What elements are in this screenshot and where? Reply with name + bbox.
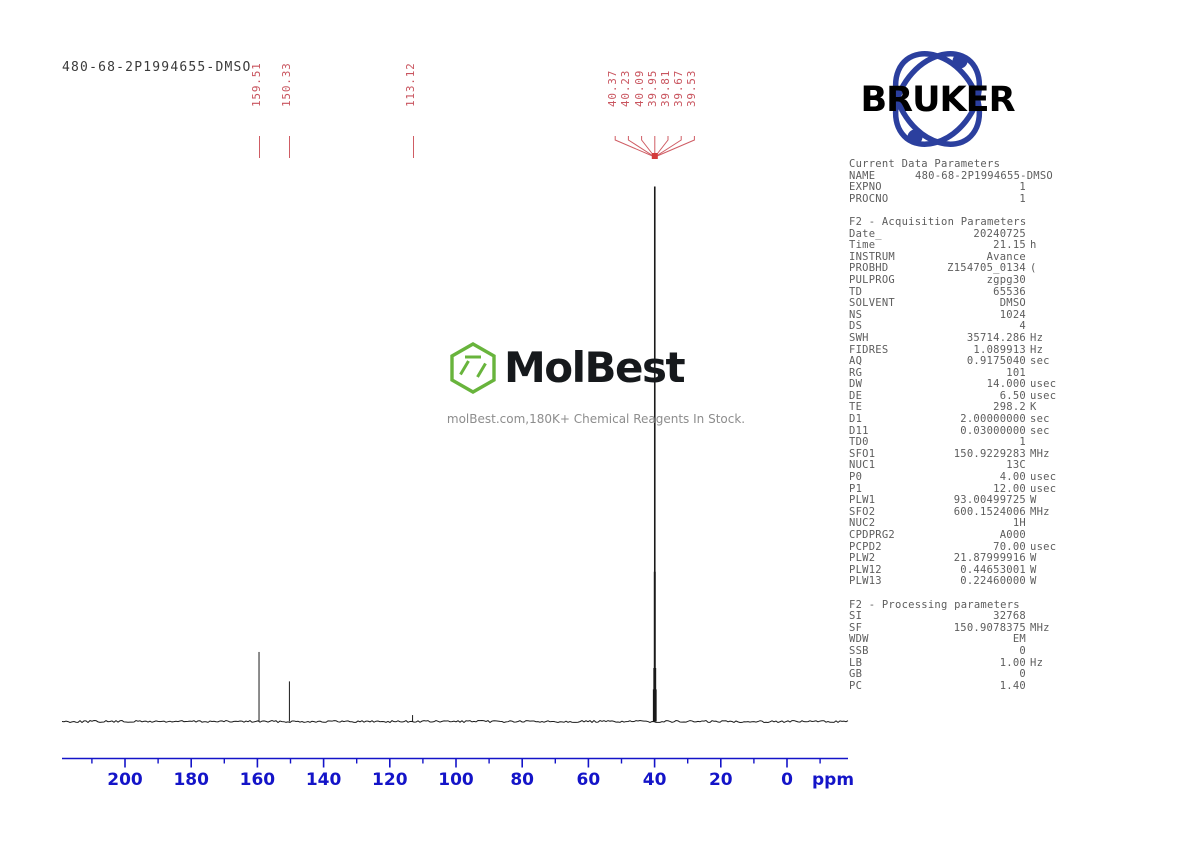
bruker-logo: BRUKER xyxy=(850,45,1025,153)
param-section-heading: F2 - Processing parameters xyxy=(849,600,1064,612)
param-value: 1 xyxy=(915,194,1026,206)
param-key: PROCNO xyxy=(849,194,915,206)
param-unit xyxy=(1026,646,1064,658)
param-unit xyxy=(1026,681,1064,693)
param-value: 0.03000000 xyxy=(915,426,1026,438)
nmr-report-page: 480-68-2P1994655-DMSO 159.51150.33113.12… xyxy=(0,0,1190,842)
param-row: NS1024 xyxy=(849,310,1064,322)
param-key: PULPROG xyxy=(849,275,915,287)
param-row: SFO1150.9229283MHz xyxy=(849,449,1064,461)
param-spacer xyxy=(849,588,1064,600)
param-row: AQ0.9175040sec xyxy=(849,356,1064,368)
param-unit: sec xyxy=(1026,414,1064,426)
param-key: SI xyxy=(849,611,915,623)
bruker-dot-bottom xyxy=(908,130,923,145)
param-value: A000 xyxy=(915,530,1026,542)
param-unit xyxy=(1026,530,1064,542)
param-unit xyxy=(1053,171,1091,183)
param-row: SSB0 xyxy=(849,646,1064,658)
param-row: Time21.15h xyxy=(849,240,1064,252)
param-value: 35714.286 xyxy=(915,333,1026,345)
param-unit: usec xyxy=(1026,472,1064,484)
param-value: 1.00 xyxy=(915,658,1026,670)
param-value: 480-68-2P1994655-DMSO xyxy=(915,171,1053,183)
param-row: SFO2600.1524006MHz xyxy=(849,507,1064,519)
param-row: D12.00000000sec xyxy=(849,414,1064,426)
param-key: AQ xyxy=(849,356,915,368)
param-value: 2.00000000 xyxy=(915,414,1026,426)
bruker-wordmark: BRUKER xyxy=(850,83,1025,118)
param-key: PLW13 xyxy=(849,576,915,588)
param-unit xyxy=(1026,518,1064,530)
param-unit: h xyxy=(1026,240,1064,252)
axis-tick-label: 60 xyxy=(577,770,601,790)
param-key: P0 xyxy=(849,472,915,484)
param-row: SI32768 xyxy=(849,611,1064,623)
param-key: Time xyxy=(849,240,915,252)
param-row: WDWEM xyxy=(849,634,1064,646)
watermark-wordmark: MolBest xyxy=(504,347,684,389)
param-unit: W xyxy=(1026,576,1064,588)
param-unit xyxy=(1026,287,1064,299)
axis-unit-label: ppm xyxy=(812,770,854,790)
param-unit: sec xyxy=(1026,356,1064,368)
param-unit xyxy=(1026,634,1064,646)
param-unit xyxy=(1026,669,1064,681)
param-row: SF150.9078375MHz xyxy=(849,623,1064,635)
axis-tick-label: 20 xyxy=(709,770,733,790)
param-value: 32768 xyxy=(915,611,1026,623)
param-value: 0 xyxy=(915,669,1026,681)
param-unit: Hz xyxy=(1026,658,1064,670)
param-key: CPDPRG2 xyxy=(849,530,915,542)
param-value: 600.1524006 xyxy=(915,507,1026,519)
param-key: D1 xyxy=(849,414,915,426)
param-value: 150.9078375 xyxy=(915,623,1026,635)
param-row: PROCNO1 xyxy=(849,194,1064,206)
axis-tick-label: 160 xyxy=(240,770,276,790)
param-unit: ( xyxy=(1026,263,1064,275)
axis-tick-label: 40 xyxy=(643,770,667,790)
param-row: GB0 xyxy=(849,669,1064,681)
param-row: LB1.00Hz xyxy=(849,658,1064,670)
param-row: PLW130.22460000W xyxy=(849,576,1064,588)
param-unit xyxy=(1026,275,1064,287)
axis-tick-label: 0 xyxy=(781,770,793,790)
param-value: 1.40 xyxy=(915,681,1026,693)
bruker-dot-top xyxy=(953,54,968,69)
param-row: PULPROGzgpg30 xyxy=(849,275,1064,287)
param-value: 21.15 xyxy=(915,240,1026,252)
watermark-tagline: molBest.com,180K+ Chemical Reagents In S… xyxy=(446,412,746,426)
param-value: EM xyxy=(915,634,1026,646)
param-unit: MHz xyxy=(1026,449,1064,461)
acquisition-parameter-table: Current Data ParametersNAME480-68-2P1994… xyxy=(849,159,1064,692)
param-row: D110.03000000sec xyxy=(849,426,1064,438)
param-row: P04.00usec xyxy=(849,472,1064,484)
axis-tick-label: 120 xyxy=(372,770,408,790)
param-row: CPDPRG2A000 xyxy=(849,530,1064,542)
param-value: DMSO xyxy=(915,298,1026,310)
axis-tick-label: 180 xyxy=(173,770,209,790)
param-unit xyxy=(1026,310,1064,322)
watermark-logo-row: MolBest xyxy=(446,340,746,396)
param-value: 0.22460000 xyxy=(915,576,1026,588)
param-key: GB xyxy=(849,669,915,681)
param-unit xyxy=(1026,194,1064,206)
hexagon-molecule-icon xyxy=(446,341,500,395)
param-value: 1 xyxy=(915,182,1026,194)
param-value: 0 xyxy=(915,646,1026,658)
axis-tick-label: 200 xyxy=(107,770,143,790)
axis-tick-label: 140 xyxy=(306,770,342,790)
param-unit xyxy=(1026,182,1064,194)
param-key: SSB xyxy=(849,646,915,658)
param-row: PC1.40 xyxy=(849,681,1064,693)
axis-tick-label: 100 xyxy=(438,770,474,790)
axis-tick-label: 80 xyxy=(510,770,534,790)
param-value: 4.00 xyxy=(915,472,1026,484)
param-unit: Hz xyxy=(1026,333,1064,345)
param-row: SWH35714.286Hz xyxy=(849,333,1064,345)
param-key: SOLVENT xyxy=(849,298,915,310)
param-unit: MHz xyxy=(1026,623,1064,635)
molbest-watermark: MolBest molBest.com,180K+ Chemical Reage… xyxy=(446,340,746,426)
param-value: 1024 xyxy=(915,310,1026,322)
param-section-heading: F2 - Acquisition Parameters xyxy=(849,217,1064,229)
param-key: SWH xyxy=(849,333,915,345)
param-section-heading: Current Data Parameters xyxy=(849,159,1064,171)
param-value: zgpg30 xyxy=(915,275,1026,287)
param-unit: MHz xyxy=(1026,507,1064,519)
param-unit xyxy=(1026,298,1064,310)
param-unit xyxy=(1026,611,1064,623)
param-row: SOLVENTDMSO xyxy=(849,298,1064,310)
param-unit: sec xyxy=(1026,426,1064,438)
param-value: 0.9175040 xyxy=(915,356,1026,368)
param-key: PC xyxy=(849,681,915,693)
